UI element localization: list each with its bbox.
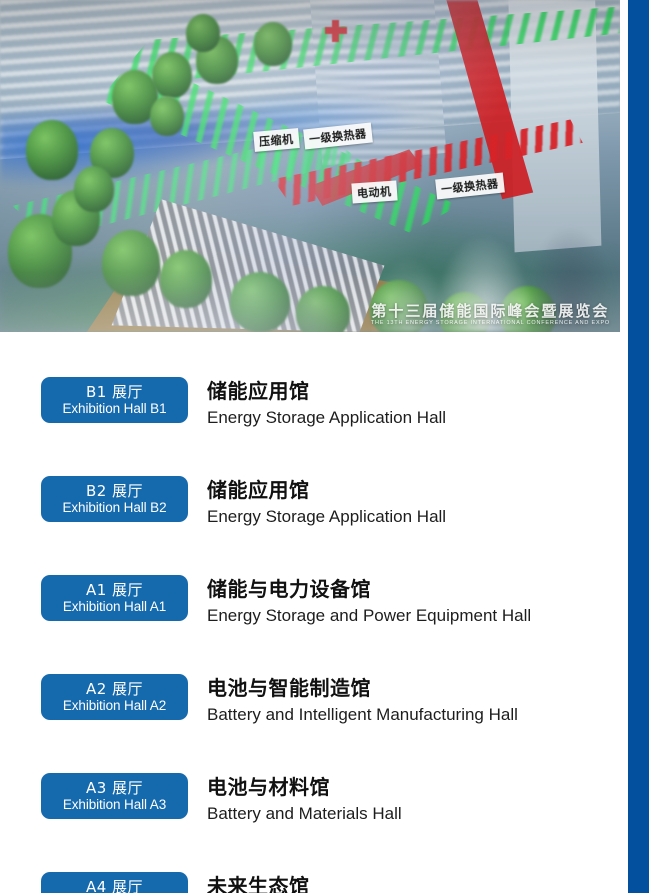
hall-name-en: Energy Storage and Power Equipment Hall — [207, 604, 628, 628]
hall-badge-b1[interactable]: B1 展厅 Exhibition Hall B1 — [41, 377, 188, 423]
hall-code-label: B2 展厅 — [86, 483, 143, 500]
hall-name-cn: 未来生态馆 — [207, 873, 628, 893]
hall-code-label: A1 展厅 — [86, 582, 143, 599]
hall-row-a3[interactable]: A3 展厅 Exhibition Hall A3 电池与材料馆 Battery … — [0, 773, 628, 872]
hall-row-b2[interactable]: B2 展厅 Exhibition Hall B2 储能应用馆 Energy St… — [0, 476, 628, 575]
hall-text-a3: 电池与材料馆 Battery and Materials Hall — [188, 773, 628, 826]
hall-code-en-label: Exhibition Hall A3 — [63, 797, 166, 812]
hall-code-label: A3 展厅 — [86, 780, 143, 797]
page-root: 压缩机 一级换热器 电动机 一级换热器 第十三届储能国际峰会暨展览会 THE 1… — [0, 0, 649, 893]
hall-badge-a4[interactable]: A4 展厅 Exhibition Hall A4 — [41, 872, 188, 893]
hall-text-b2: 储能应用馆 Energy Storage Application Hall — [188, 476, 628, 529]
hall-code-en-label: Exhibition Hall A1 — [63, 599, 166, 614]
hall-name-cn: 储能与电力设备馆 — [207, 576, 628, 603]
right-side-blue-rail — [628, 0, 649, 893]
exhibition-hall-list: B1 展厅 Exhibition Hall B1 储能应用馆 Energy St… — [0, 332, 628, 893]
hall-badge-a2[interactable]: A2 展厅 Exhibition Hall A2 — [41, 674, 188, 720]
hall-row-b1[interactable]: B1 展厅 Exhibition Hall B1 储能应用馆 Energy St… — [0, 377, 628, 476]
hall-text-a2: 电池与智能制造馆 Battery and Intelligent Manufac… — [188, 674, 628, 727]
hall-code-en-label: Exhibition Hall A2 — [63, 698, 166, 713]
hall-code-label: A2 展厅 — [86, 681, 143, 698]
hall-name-cn: 储能应用馆 — [207, 477, 628, 504]
hall-name-en: Battery and Intelligent Manufacturing Ha… — [207, 703, 628, 727]
hall-code-en-label: Exhibition Hall B2 — [62, 500, 166, 515]
hall-row-a1[interactable]: A1 展厅 Exhibition Hall A1 储能与电力设备馆 Energy… — [0, 575, 628, 674]
hall-code-label: B1 展厅 — [86, 384, 143, 401]
hall-name-en: Energy Storage Application Hall — [207, 505, 628, 529]
placard-compressor: 压缩机 — [253, 128, 299, 152]
hall-code-label: A4 展厅 — [86, 879, 143, 893]
hall-name-en: Energy Storage Application Hall — [207, 406, 628, 430]
hall-name-cn: 电池与智能制造馆 — [207, 675, 628, 702]
hall-row-a2[interactable]: A2 展厅 Exhibition Hall A2 电池与智能制造馆 Batter… — [0, 674, 628, 773]
photo-vignette — [0, 0, 620, 332]
hall-text-a4: 未来生态馆 Future Ecology Hall — [188, 872, 628, 893]
hero-photo: 压缩机 一级换热器 电动机 一级换热器 第十三届储能国际峰会暨展览会 THE 1… — [0, 0, 620, 332]
hall-badge-b2[interactable]: B2 展厅 Exhibition Hall B2 — [41, 476, 188, 522]
hall-badge-a3[interactable]: A3 展厅 Exhibition Hall A3 — [41, 773, 188, 819]
hall-name-cn: 电池与材料馆 — [207, 774, 628, 801]
hall-name-cn: 储能应用馆 — [207, 378, 628, 405]
hall-code-en-label: Exhibition Hall B1 — [62, 401, 166, 416]
hall-badge-a1[interactable]: A1 展厅 Exhibition Hall A1 — [41, 575, 188, 621]
hall-row-a4[interactable]: A4 展厅 Exhibition Hall A4 未来生态馆 Future Ec… — [0, 872, 628, 893]
hall-text-a1: 储能与电力设备馆 Energy Storage and Power Equipm… — [188, 575, 628, 628]
placard-electric-motor: 电动机 — [351, 180, 397, 203]
hall-text-b1: 储能应用馆 Energy Storage Application Hall — [188, 377, 628, 430]
hall-name-en: Battery and Materials Hall — [207, 802, 628, 826]
